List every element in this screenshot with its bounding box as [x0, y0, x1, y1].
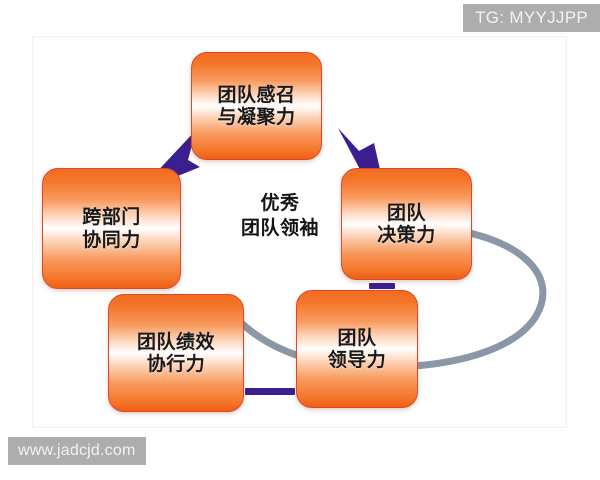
node-cross-department[interactable]: 跨部门 协同力 [42, 168, 181, 289]
center-caption: 优秀 团队领袖 [214, 191, 346, 240]
node-right-label: 团队 决策力 [377, 202, 436, 247]
watermark-top-right: TG: MYYJJPP [463, 4, 600, 32]
node-team-leadership[interactable]: 团队 领导力 [296, 290, 418, 408]
diagram-canvas: 团队感召 与凝聚力 跨部门 协同力 团队 决策力 团队绩效 协行力 团队 领导力… [0, 0, 600, 480]
node-bottomright-label: 团队 领导力 [328, 327, 387, 372]
node-team-inspiration[interactable]: 团队感召 与凝聚力 [191, 52, 322, 160]
node-left-label: 跨部门 协同力 [82, 206, 141, 251]
node-team-performance[interactable]: 团队绩效 协行力 [108, 294, 244, 412]
watermark-bottom-left: www.jadcjd.com [8, 437, 146, 465]
node-bottomleft-label: 团队绩效 协行力 [137, 331, 215, 376]
node-top-label: 团队感召 与凝聚力 [217, 84, 295, 129]
node-team-decision[interactable]: 团队 决策力 [341, 168, 472, 280]
